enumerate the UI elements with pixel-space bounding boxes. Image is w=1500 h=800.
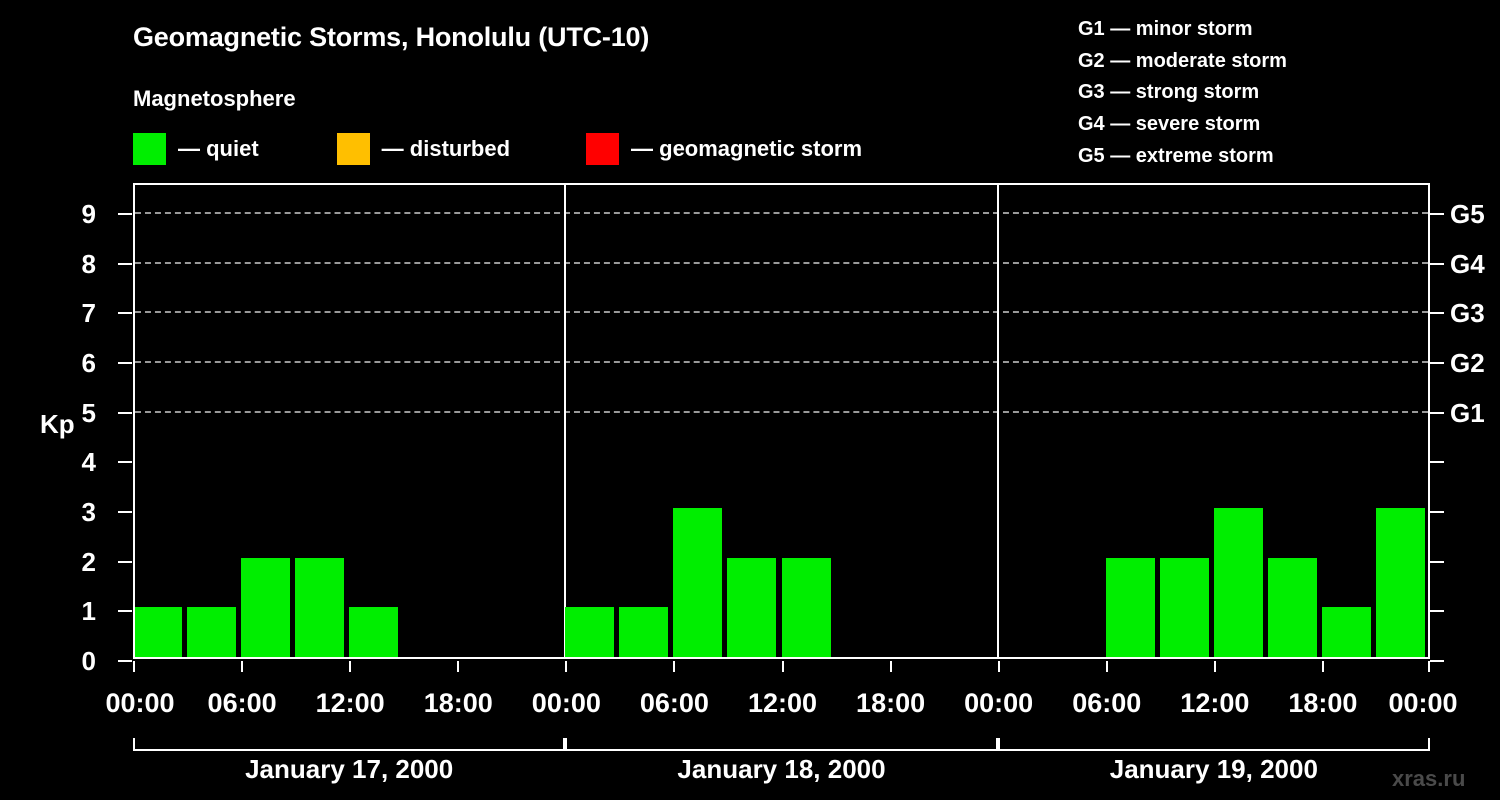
y-tick-label: 2 — [82, 549, 96, 575]
state-legend: — quiet — disturbed — geomagnetic storm — [133, 133, 862, 165]
y-tick-mark-right — [1430, 412, 1444, 414]
day-separator — [564, 185, 566, 657]
x-tick-label: 12:00 — [316, 688, 385, 719]
x-tick-label: 06:00 — [208, 688, 277, 719]
legend-item-quiet: — quiet — [133, 133, 259, 165]
y-tick-mark — [118, 561, 132, 563]
x-tick-label: 12:00 — [1180, 688, 1249, 719]
bar — [619, 607, 668, 657]
disturbed-swatch — [337, 133, 370, 165]
x-axis-labels: 00:0006:0012:0018:0000:0006:0012:0018:00… — [0, 688, 1500, 722]
y-tick-label: 4 — [82, 449, 96, 475]
legend-item-storm: — geomagnetic storm — [586, 133, 862, 165]
x-axis-ticks — [133, 661, 1430, 673]
x-tick-mark — [1106, 661, 1108, 672]
watermark: xras.ru — [1392, 766, 1465, 792]
x-tick-mark — [1214, 661, 1216, 672]
day-bands — [133, 738, 1430, 752]
bar — [673, 508, 722, 657]
day-names: January 17, 2000January 18, 2000January … — [0, 754, 1500, 788]
g-tick-label: G2 — [1450, 350, 1485, 376]
x-tick-label: 18:00 — [1288, 688, 1357, 719]
page-title: Geomagnetic Storms, Honolulu (UTC-10) — [133, 22, 649, 53]
x-tick-mark — [998, 661, 1000, 672]
x-tick-label: 00:00 — [964, 688, 1033, 719]
y-tick-mark-right — [1430, 610, 1444, 612]
x-tick-mark — [890, 661, 892, 672]
g-tick-label: G4 — [1450, 251, 1485, 277]
y-tick-mark-right — [1430, 461, 1444, 463]
y-axis-right-g-scale: G1G2G3G4G5 — [1430, 183, 1500, 659]
legend-label-disturbed: — disturbed — [382, 136, 510, 162]
y-tick-mark — [118, 412, 132, 414]
g-scale-item: G5 — extreme storm — [1078, 141, 1287, 173]
g-tick-label: G5 — [1450, 201, 1485, 227]
x-tick-label: 00:00 — [532, 688, 601, 719]
bar — [1268, 558, 1317, 657]
gridline — [135, 212, 1428, 214]
x-tick-label: 12:00 — [748, 688, 817, 719]
y-tick-mark — [118, 362, 132, 364]
y-tick-mark-right — [1430, 561, 1444, 563]
g-scale-item: G1 — minor storm — [1078, 14, 1287, 46]
storm-swatch — [586, 133, 619, 165]
y-tick-mark — [118, 660, 132, 662]
x-tick-mark — [782, 661, 784, 672]
bar — [782, 558, 831, 657]
g-scale-legend: G1 — minor storm G2 — moderate storm G3 … — [1078, 14, 1287, 173]
y-tick-mark-right — [1430, 511, 1444, 513]
x-tick-mark — [1428, 661, 1430, 672]
y-tick-mark — [118, 461, 132, 463]
x-tick-label: 06:00 — [1072, 688, 1141, 719]
y-tick-label: 5 — [82, 400, 96, 426]
y-tick-mark — [118, 511, 132, 513]
gridline — [135, 411, 1428, 413]
day-label: January 18, 2000 — [677, 754, 885, 785]
g-scale-item: G4 — severe storm — [1078, 109, 1287, 141]
bar — [349, 607, 398, 657]
g-scale-item: G2 — moderate storm — [1078, 46, 1287, 78]
x-tick-label: 18:00 — [424, 688, 493, 719]
g-scale-item: G3 — strong storm — [1078, 77, 1287, 109]
bar — [727, 558, 776, 657]
legend-item-disturbed: — disturbed — [337, 133, 510, 165]
bar — [1106, 558, 1155, 657]
g-tick-label: G1 — [1450, 400, 1485, 426]
x-tick-label: 00:00 — [105, 688, 174, 719]
x-tick-label: 06:00 — [640, 688, 709, 719]
y-tick-mark — [118, 312, 132, 314]
x-tick-mark — [565, 661, 567, 672]
bar — [1376, 508, 1425, 657]
subtitle: Magnetosphere — [133, 86, 296, 112]
gridline — [135, 262, 1428, 264]
legend-label-storm: — geomagnetic storm — [631, 136, 862, 162]
x-tick-mark — [673, 661, 675, 672]
bar — [241, 558, 290, 657]
x-tick-label: 00:00 — [1388, 688, 1457, 719]
y-tick-label: 1 — [82, 598, 96, 624]
bar — [295, 558, 344, 657]
x-tick-mark — [349, 661, 351, 672]
bar — [133, 607, 182, 657]
g-tick-label: G3 — [1450, 300, 1485, 326]
day-separator — [997, 185, 999, 657]
gridline — [135, 361, 1428, 363]
x-tick-mark — [133, 661, 135, 672]
bar — [187, 607, 236, 657]
legend-label-quiet: — quiet — [178, 136, 259, 162]
y-tick-label: 3 — [82, 499, 96, 525]
y-tick-mark-right — [1430, 362, 1444, 364]
plot-area — [133, 183, 1430, 659]
bar — [1322, 607, 1371, 657]
y-tick-mark-right — [1430, 660, 1444, 662]
y-tick-label: 9 — [82, 201, 96, 227]
bar — [1160, 558, 1209, 657]
y-tick-mark — [118, 213, 132, 215]
y-tick-mark — [118, 263, 132, 265]
y-axis-title: Kp — [40, 409, 75, 440]
y-tick-mark-right — [1430, 312, 1444, 314]
gridline — [135, 311, 1428, 313]
x-tick-mark — [241, 661, 243, 672]
y-tick-label: 7 — [82, 300, 96, 326]
quiet-swatch — [133, 133, 166, 165]
y-tick-mark-right — [1430, 213, 1444, 215]
day-band — [133, 738, 565, 751]
day-band — [565, 738, 997, 751]
x-tick-mark — [1322, 661, 1324, 672]
bar — [1214, 508, 1263, 657]
y-tick-label: 6 — [82, 350, 96, 376]
x-tick-mark — [457, 661, 459, 672]
day-band — [998, 738, 1430, 751]
day-label: January 17, 2000 — [245, 754, 453, 785]
x-tick-label: 18:00 — [856, 688, 925, 719]
y-tick-mark-right — [1430, 263, 1444, 265]
y-tick-label: 0 — [82, 648, 96, 674]
bar — [565, 607, 614, 657]
day-label: January 19, 2000 — [1110, 754, 1318, 785]
y-tick-label: 8 — [82, 251, 96, 277]
y-tick-mark — [118, 610, 132, 612]
